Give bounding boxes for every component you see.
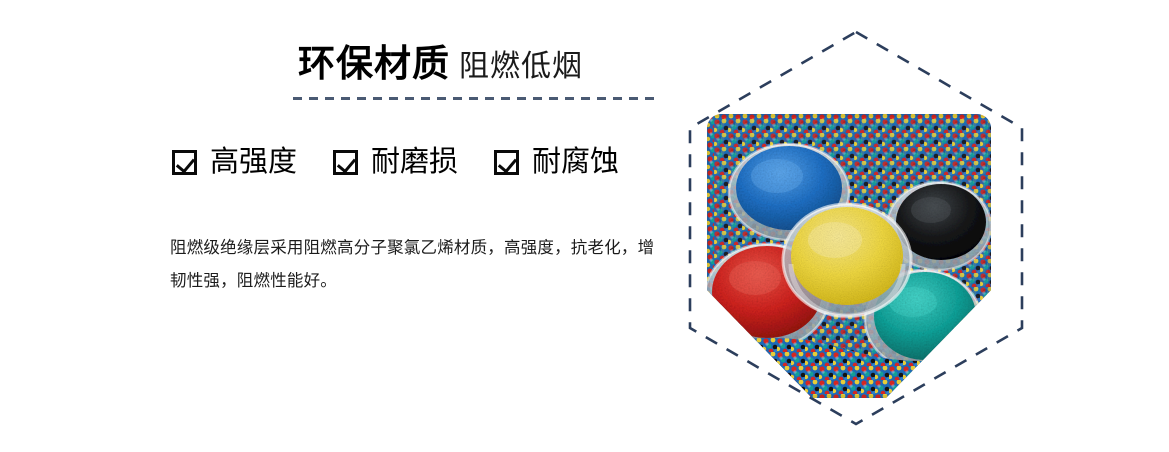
feature-item-strength: 高强度	[172, 148, 297, 177]
title-secondary: 阻燃低烟	[459, 50, 583, 83]
feature-item-wear-resistance: 耐磨损	[333, 148, 458, 177]
checked-box-icon	[333, 150, 358, 175]
checked-box-icon	[494, 150, 519, 175]
promo-banner: 环保材质阻燃低烟 高强度 耐磨损 耐腐蚀 阻燃级绝缘层采用阻燃高分子聚氯乙烯材质…	[0, 0, 1169, 452]
feature-label: 耐磨损	[371, 148, 458, 177]
title-primary: 环保材质	[298, 43, 450, 84]
description-paragraph: 阻燃级绝缘层采用阻燃高分子聚氯乙烯材质，高强度，抗老化，增韧性强，阻燃性能好。	[170, 232, 670, 298]
feature-list: 高强度 耐磨损 耐腐蚀	[172, 148, 619, 177]
page-title: 环保材质阻燃低烟	[298, 45, 583, 82]
feature-label: 高强度	[210, 148, 297, 177]
media-panel	[680, 22, 1032, 434]
checked-box-icon	[172, 150, 197, 175]
feature-item-corrosion-resistance: 耐腐蚀	[494, 148, 619, 177]
feature-label: 耐腐蚀	[532, 148, 619, 177]
title-divider	[293, 97, 661, 100]
text-column: 环保材质阻燃低烟 高强度 耐磨损 耐腐蚀 阻燃级绝缘层采用阻燃高分子聚氯乙烯材质…	[0, 0, 690, 452]
